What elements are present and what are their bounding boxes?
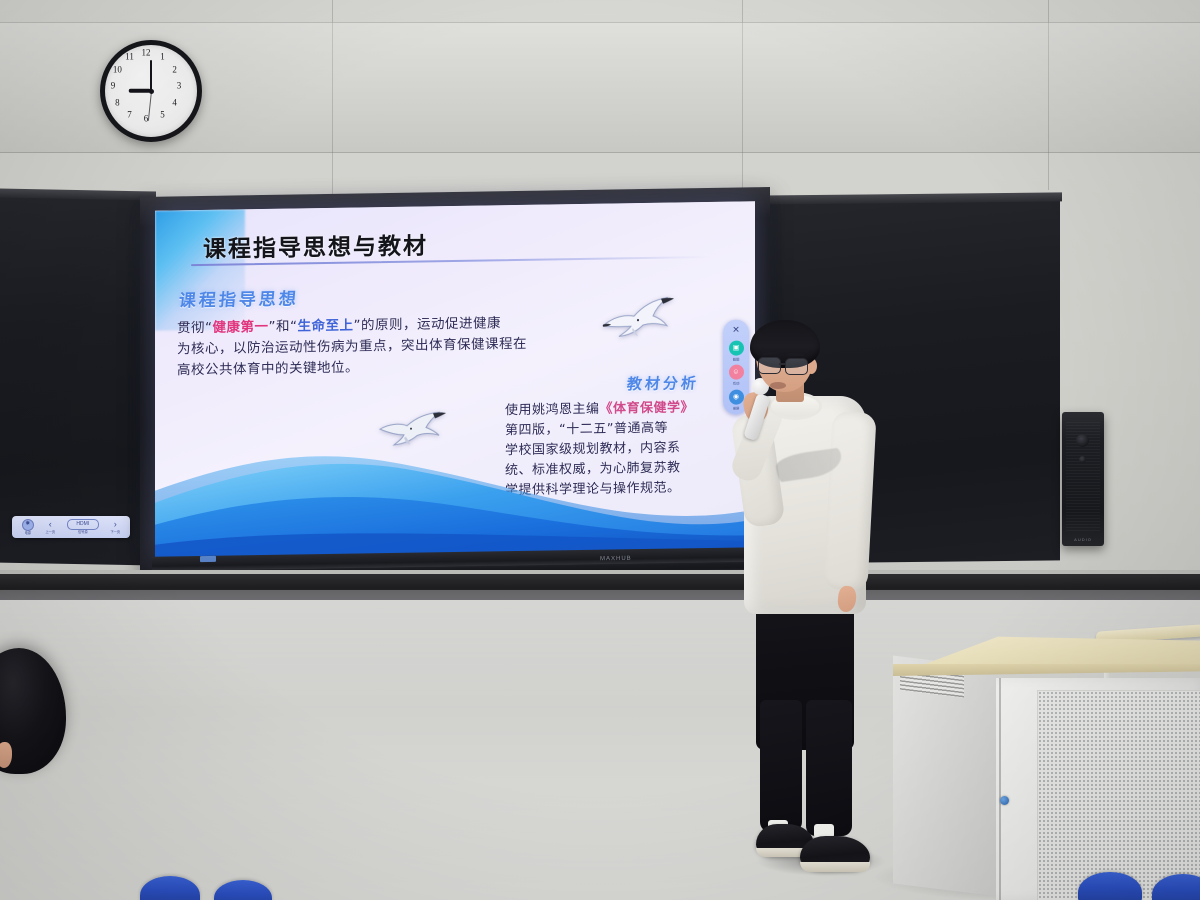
- mini-cell-power[interactable]: ✸ 电源: [22, 519, 34, 535]
- toolbar-caption: 录屏: [733, 407, 739, 411]
- source-pill: HDMI: [67, 519, 99, 530]
- presenter-mouth: [770, 382, 786, 389]
- section-heading-1: 课程指导思想: [178, 284, 300, 311]
- next-icon: ›: [110, 520, 120, 530]
- clock-numeral: 3: [177, 82, 182, 91]
- glasses-left-lens: [758, 357, 781, 374]
- slide-text-run: 健康第一: [213, 319, 269, 336]
- seagull-upper-decor: [597, 295, 675, 350]
- clock-numeral: 4: [172, 98, 177, 107]
- glasses-right-lens: [785, 358, 808, 375]
- shoe-sole: [800, 862, 870, 872]
- clock-numeral: 1: [160, 53, 165, 62]
- slide-canvas: 课程指导思想与教材 课程指导思想 贯彻“健康第一”和“生命至上”的原则，运动促进…: [155, 201, 755, 558]
- wall-clock: 121234567891011: [100, 40, 202, 142]
- slide-text-run: 贯彻“: [177, 320, 213, 337]
- close-icon[interactable]: ✕: [729, 322, 744, 337]
- clock-numeral: 10: [113, 65, 122, 74]
- mini-label: 电源: [25, 532, 31, 535]
- slide-text-run: ”的原则，运动促进健康: [354, 315, 502, 333]
- classroom-photo: 121234567891011 ✸ 电源 ‹ 上一页 HDMI 信号源 › 下一…: [0, 0, 1200, 900]
- slide-text-run: 学校国家级规划教材，内容系: [505, 440, 681, 458]
- panel-indicator: [200, 556, 216, 562]
- mini-label: 上一页: [45, 531, 55, 534]
- toolbar-caption: 互动: [733, 383, 739, 387]
- slide-text-run: 高校公共体育中的关键地位。: [177, 360, 359, 379]
- slide-text-run: 为核心，以防治运动性伤病为重点，突出体育保健课程在: [177, 336, 527, 357]
- wall-seam: [0, 22, 1200, 23]
- clock-hour-hand: [129, 89, 151, 93]
- wall-seam: [742, 0, 743, 196]
- clock-numeral: 5: [160, 110, 165, 119]
- clock-numeral: 7: [127, 110, 132, 119]
- section-body-1: 贯彻“健康第一”和“生命至上”的原则，运动促进健康为核心，以防治运动性伤病为重点…: [177, 312, 597, 382]
- emoji-icon[interactable]: ☺: [729, 365, 744, 380]
- clock-numeral: 9: [111, 82, 116, 91]
- panel-brand: MAXHUB: [600, 556, 632, 562]
- presenter-left-leg: [760, 700, 802, 832]
- mini-cell-source[interactable]: HDMI 信号源: [67, 519, 99, 534]
- clock-numeral: 8: [115, 98, 120, 107]
- clock-numeral: 2: [172, 65, 177, 74]
- slide-text-run: 统、标准权威，为心肺复苏教: [505, 460, 681, 478]
- speaker-tweeter: [1079, 456, 1086, 463]
- power-icon: ✸: [22, 519, 34, 531]
- clock-minute-hand: [150, 60, 153, 91]
- slide-text-run: 学提供科学理论与操作规范。: [505, 480, 681, 498]
- glasses-bridge: [779, 363, 785, 365]
- secondary-screen-control-strip[interactable]: ✸ 电源 ‹ 上一页 HDMI 信号源 › 下一页: [12, 516, 130, 538]
- mini-cell-next[interactable]: › 下一页: [110, 520, 120, 534]
- speaker-driver: [1076, 434, 1089, 447]
- slide-title: 课程指导思想与教材: [203, 226, 428, 264]
- slide-text-run: ”和“: [269, 318, 298, 334]
- wall-speaker: AUDIO: [1062, 412, 1104, 546]
- clock-numeral: 6: [144, 115, 149, 124]
- record-icon[interactable]: ◉: [729, 389, 744, 404]
- left-blackboard-panel: [0, 194, 154, 565]
- presenter-right-leg: [806, 700, 852, 836]
- prev-icon: ‹: [45, 520, 55, 530]
- presenter-right-sleeve: [823, 411, 876, 591]
- slide-text-run: 使用姚鸿恩主编: [505, 402, 600, 418]
- wall-seam: [0, 152, 1200, 153]
- cabinet-lock[interactable]: [1000, 796, 1009, 805]
- wall-seam: [1048, 0, 1049, 190]
- seagull-lower-decor: [375, 406, 447, 455]
- slide-text-run: 《体育保健学》: [600, 400, 695, 416]
- clock-numeral: 12: [142, 49, 151, 58]
- slide-text-line: 学提供科学理论与操作规范。: [505, 477, 753, 501]
- section-body-2: 使用姚鸿恩主编《体育保健学》第四版，“十二五”普通高等学校国家级规划教材，内容系…: [505, 397, 753, 501]
- baseboard: [0, 574, 1200, 600]
- cabinet-mesh-panel: [1037, 690, 1200, 900]
- mini-cell-prev[interactable]: ‹ 上一页: [45, 520, 55, 534]
- mini-label: 下一页: [110, 531, 120, 534]
- cabinet-seam: [999, 678, 1001, 900]
- wall-seam: [332, 0, 333, 200]
- clock-pivot: [149, 89, 154, 94]
- camera-icon[interactable]: ▣: [729, 340, 744, 355]
- clock-numeral: 11: [125, 53, 134, 62]
- slide-text-run: 第四版，“十二五”普通高等: [505, 421, 668, 439]
- presentation-screen[interactable]: 课程指导思想与教材 课程指导思想 贯彻“健康第一”和“生命至上”的原则，运动促进…: [155, 201, 755, 558]
- toolbar-caption: 截图: [733, 359, 739, 363]
- mini-label: 信号源: [78, 531, 88, 534]
- corner-gradient-decor: [155, 209, 245, 330]
- speaker-brand: AUDIO: [1062, 537, 1104, 542]
- slide-text-run: 生命至上: [298, 318, 354, 335]
- presenter-brow: [788, 353, 804, 357]
- section-heading-2: 教材分析: [626, 372, 700, 394]
